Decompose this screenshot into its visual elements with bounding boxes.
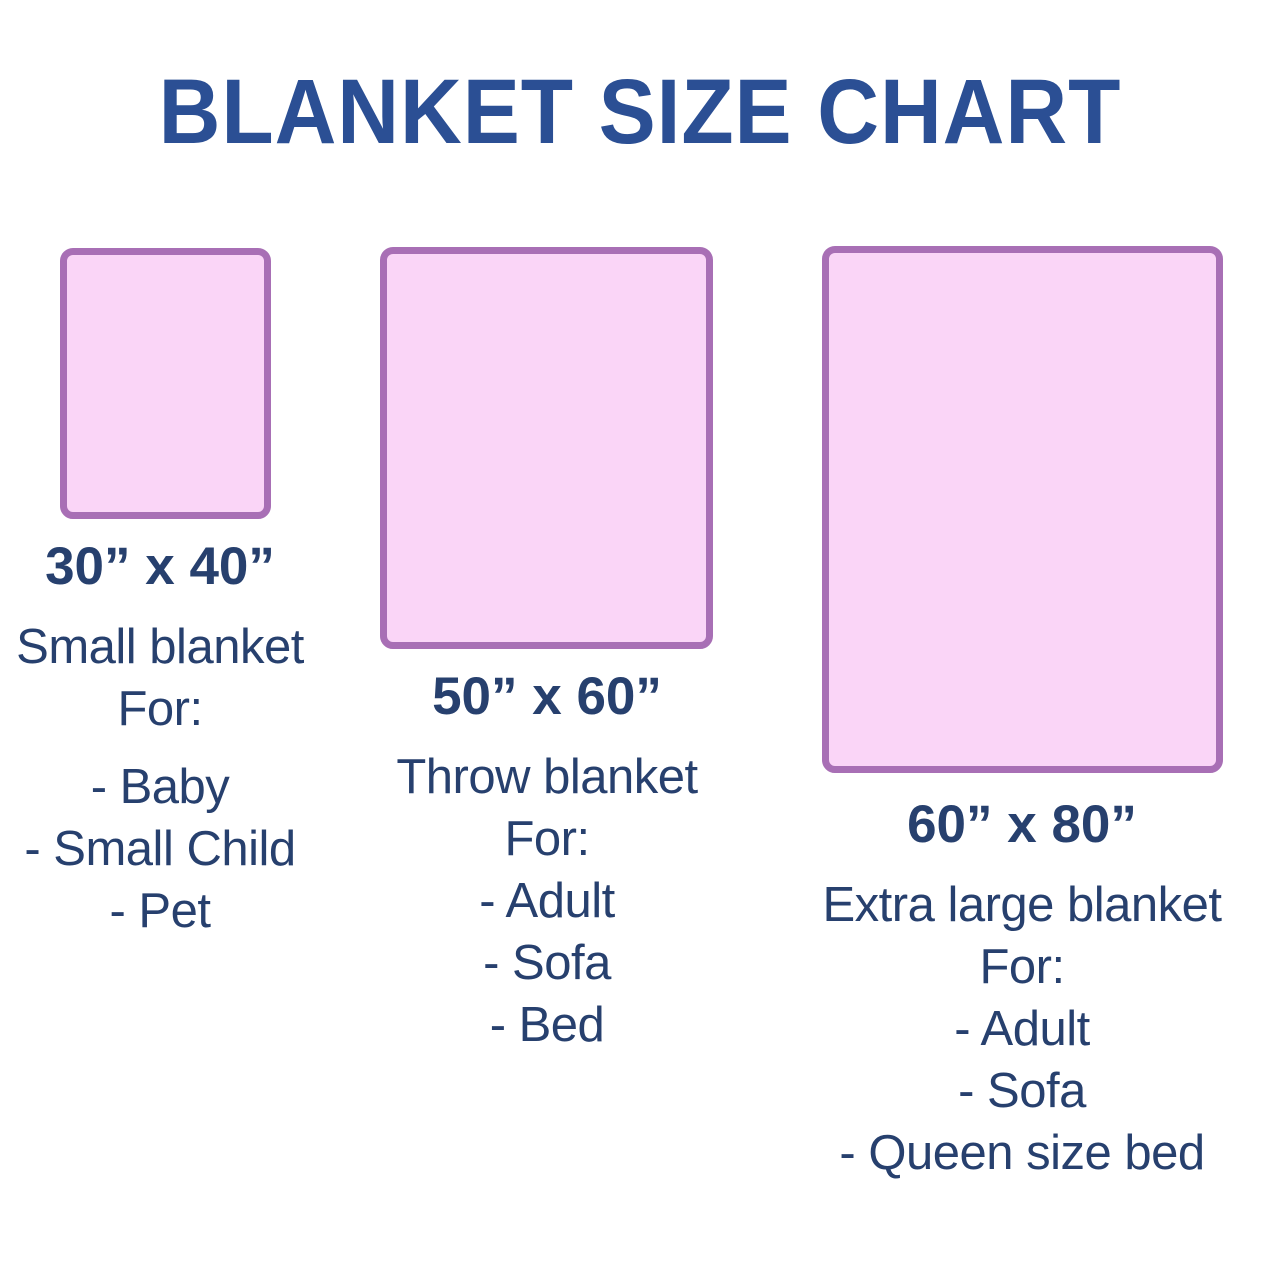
blanket-swatch-small	[60, 248, 271, 519]
page-title: BLANKET SIZE CHART	[45, 66, 1235, 158]
size-details-small: 30” x 40” Small blanket For: - Baby - Sm…	[0, 534, 330, 942]
use-item-small-1: - Baby	[0, 756, 330, 818]
use-item-small-2: - Small Child	[0, 818, 330, 880]
use-item-throw-2: - Sofa	[372, 932, 722, 994]
dimension-label-throw: 50” x 60”	[372, 664, 722, 730]
for-label-throw: For:	[372, 808, 722, 870]
use-item-extra-large-3: - Queen size bed	[780, 1122, 1264, 1184]
size-details-throw: 50” x 60” Throw blanket For: - Adult - S…	[372, 664, 722, 1056]
use-item-throw-3: - Bed	[372, 994, 722, 1056]
blanket-swatch-extra-large	[822, 246, 1223, 773]
blanket-name-throw: Throw blanket	[372, 746, 722, 808]
for-label-small: For:	[0, 678, 330, 740]
spacer	[0, 740, 330, 756]
blanket-name-extra-large: Extra large blanket	[780, 874, 1264, 936]
use-item-throw-1: - Adult	[372, 870, 722, 932]
size-details-extra-large: 60” x 80” Extra large blanket For: - Adu…	[780, 792, 1264, 1184]
spacer	[0, 600, 330, 616]
use-item-extra-large-2: - Sofa	[780, 1060, 1264, 1122]
use-item-extra-large-1: - Adult	[780, 998, 1264, 1060]
blanket-size-chart: BLANKET SIZE CHART 30” x 40” Small blank…	[0, 0, 1280, 1280]
blanket-name-small: Small blanket	[0, 616, 330, 678]
blanket-swatch-throw	[380, 247, 713, 649]
for-label-extra-large: For:	[780, 936, 1264, 998]
use-item-small-3: - Pet	[0, 880, 330, 942]
spacer	[780, 858, 1264, 874]
dimension-label-extra-large: 60” x 80”	[780, 792, 1264, 858]
dimension-label-small: 30” x 40”	[0, 534, 330, 600]
spacer	[372, 730, 722, 746]
